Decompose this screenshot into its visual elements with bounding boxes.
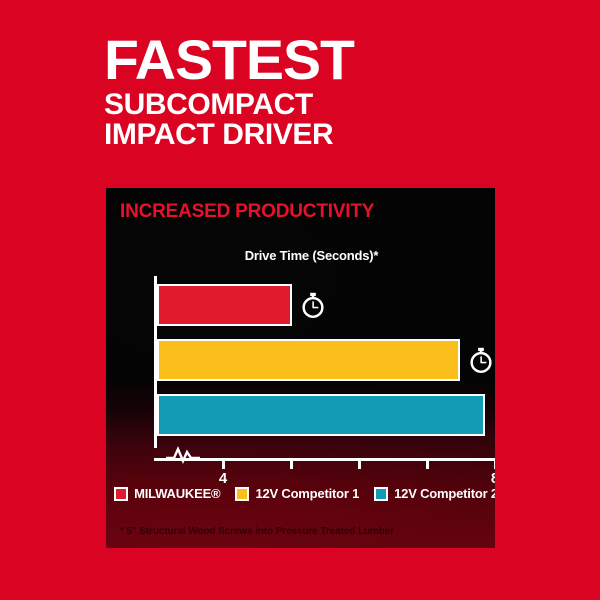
legend-swatch xyxy=(374,487,388,501)
legend-swatch xyxy=(114,487,128,501)
legend-item: 12V Competitor 1 xyxy=(235,486,359,501)
x-tick xyxy=(290,458,293,469)
x-tick xyxy=(426,458,429,469)
bar-competitor-1 xyxy=(157,339,460,381)
headline-primary: FASTEST xyxy=(104,34,532,86)
legend-label: 12V Competitor 2 xyxy=(394,486,495,501)
chart-panel: INCREASED PRODUCTIVITY Drive Time (Secon… xyxy=(106,188,495,548)
x-tick-label: 4 xyxy=(219,470,227,487)
legend-item: MILWAUKEE® xyxy=(114,486,220,501)
x-tick xyxy=(222,458,225,469)
headline-block: FASTEST SUBCOMPACT IMPACT DRIVER xyxy=(104,34,524,151)
panel-title: INCREASED PRODUCTIVITY xyxy=(120,201,374,223)
headline-secondary-line1: SUBCOMPACT xyxy=(104,90,524,121)
x-axis: 48 xyxy=(154,448,494,488)
axis-break-zigzag xyxy=(166,444,200,464)
chart-footnote: * 5" Structural Wood Screws into Pressur… xyxy=(120,526,394,537)
x-tick xyxy=(358,458,361,469)
chart-legend: MILWAUKEE®12V Competitor 112V Competitor… xyxy=(120,486,492,501)
x-tick-label: 8 xyxy=(491,470,495,487)
legend-item: 12V Competitor 2 xyxy=(374,486,495,501)
legend-label: 12V Competitor 1 xyxy=(255,486,359,501)
legend-swatch xyxy=(235,487,249,501)
x-tick xyxy=(494,458,495,469)
stopwatch-icon xyxy=(468,347,494,373)
headline-secondary-line2: IMPACT DRIVER xyxy=(104,120,524,151)
x-axis-line xyxy=(154,458,494,461)
plot-area xyxy=(154,276,484,448)
bar-competitor-2 xyxy=(157,394,485,436)
legend-label: MILWAUKEE® xyxy=(134,486,220,501)
stopwatch-icon xyxy=(300,292,326,318)
chart-axis-title: Drive Time (Seconds)* xyxy=(106,248,495,263)
bar-milwaukee xyxy=(157,284,292,326)
stopwatch-icon xyxy=(493,402,495,428)
